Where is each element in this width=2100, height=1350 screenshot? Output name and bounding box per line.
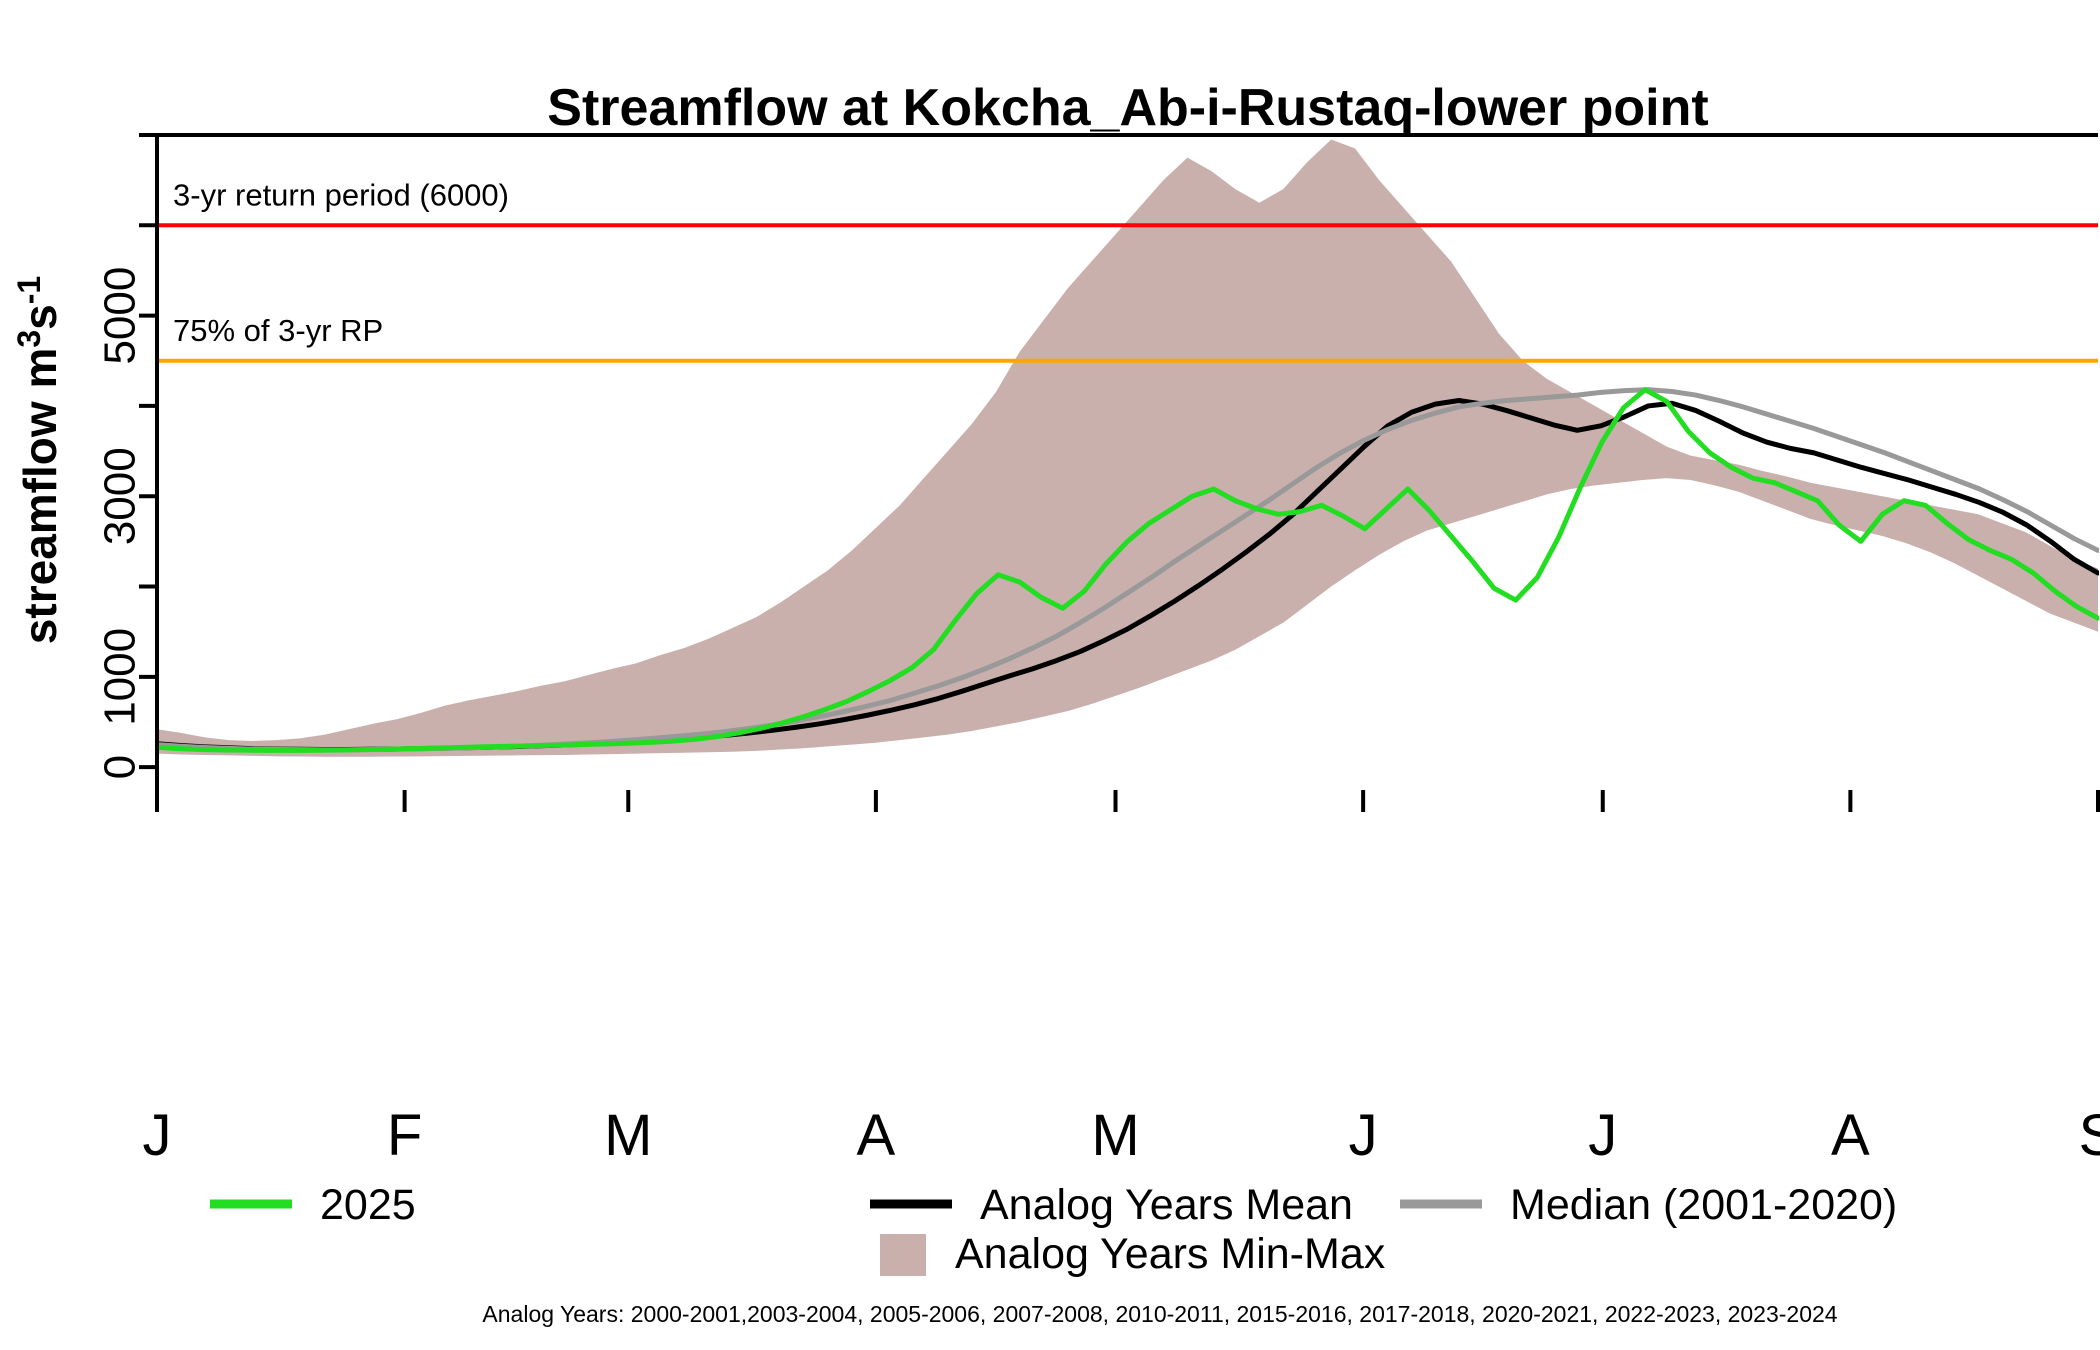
x-tick-label: M [604, 1103, 652, 1168]
chart-figure: Streamflow at Kokcha_Ab-i-Rustaq-lower p… [0, 0, 2100, 1350]
y-tick-label: 3000 [96, 447, 145, 545]
x-tick-label: A [1831, 1103, 1870, 1168]
y-axis-label-sup-neg1: -1 [11, 276, 47, 304]
x-tick-label: F [387, 1103, 422, 1168]
x-tick-label: A [857, 1103, 896, 1168]
threshold-label-75pct-3yr-rp: 75% of 3-yr RP [173, 313, 383, 348]
svg-text:0: 0 [96, 755, 145, 779]
footer-analog-years: Analog Years: 2000-2001,2003-2004, 2005-… [482, 1301, 1837, 1327]
svg-text:5000: 5000 [96, 267, 145, 365]
y-axis-label-mid: s [14, 304, 66, 330]
y-tick-label: 1000 [96, 628, 145, 726]
y-axis-label-pre: streamflow m [14, 348, 66, 645]
x-tick-label: J [143, 1103, 172, 1168]
x-tick-label: J [1349, 1103, 1378, 1168]
svg-text:3000: 3000 [96, 447, 145, 545]
streamflow-chart: Streamflow at Kokcha_Ab-i-Rustaq-lower p… [0, 0, 2100, 1350]
legend-swatch-analog-years-min-max [880, 1234, 926, 1276]
legend-label-median-2001-2020: Median (2001-2020) [1510, 1181, 1897, 1229]
x-tick-label: J [1588, 1103, 1617, 1168]
x-tick-label: S [2079, 1103, 2100, 1168]
legend-label-analog-years-min-max: Analog Years Min-Max [955, 1230, 1386, 1278]
legend-label-analog-years-mean: Analog Years Mean [980, 1181, 1353, 1229]
legend-label-2025: 2025 [320, 1181, 416, 1229]
x-tick-label: M [1091, 1103, 1139, 1168]
page-title: Streamflow at Kokcha_Ab-i-Rustaq-lower p… [547, 79, 1708, 137]
y-axis-label-sup-3: 3 [11, 330, 47, 348]
y-tick-label: 0 [96, 755, 145, 779]
svg-text:1000: 1000 [96, 628, 145, 726]
y-tick-label: 5000 [96, 267, 145, 365]
threshold-label-3yr-return-period: 3-yr return period (6000) [173, 177, 509, 212]
